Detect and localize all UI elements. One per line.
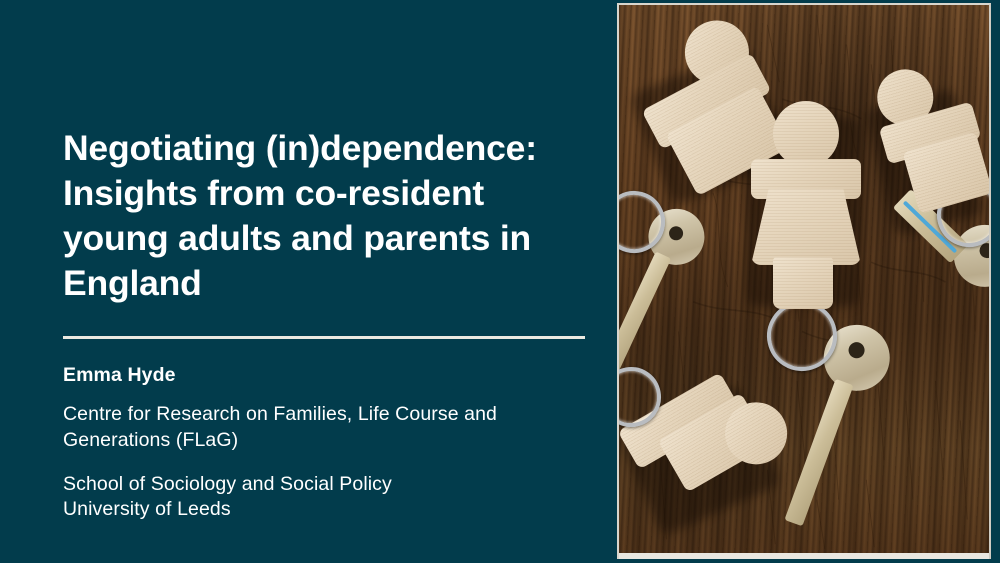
- wooden-figure-keychain-center: [737, 101, 867, 311]
- figure-head: [773, 101, 839, 167]
- figure-skirt: [751, 189, 861, 265]
- presenter-name: Emma Hyde: [63, 339, 586, 388]
- photo-frame: [616, 0, 1000, 563]
- figure-legs: [773, 257, 833, 309]
- affiliation-secondary-line2: University of Leeds: [63, 497, 563, 523]
- affiliation-secondary-line1: School of Sociology and Social Policy: [63, 454, 563, 498]
- key-blade: [617, 251, 671, 374]
- affiliation-primary: Centre for Research on Families, Life Co…: [63, 389, 563, 454]
- page-title: Negotiating (in)dependence: Insights fro…: [63, 0, 586, 306]
- keychain-photo: [617, 3, 991, 559]
- text-panel: Negotiating (in)dependence: Insights fro…: [0, 0, 616, 563]
- photo-bottom-edge: [619, 553, 991, 559]
- title-slide: Negotiating (in)dependence: Insights fro…: [0, 0, 1000, 563]
